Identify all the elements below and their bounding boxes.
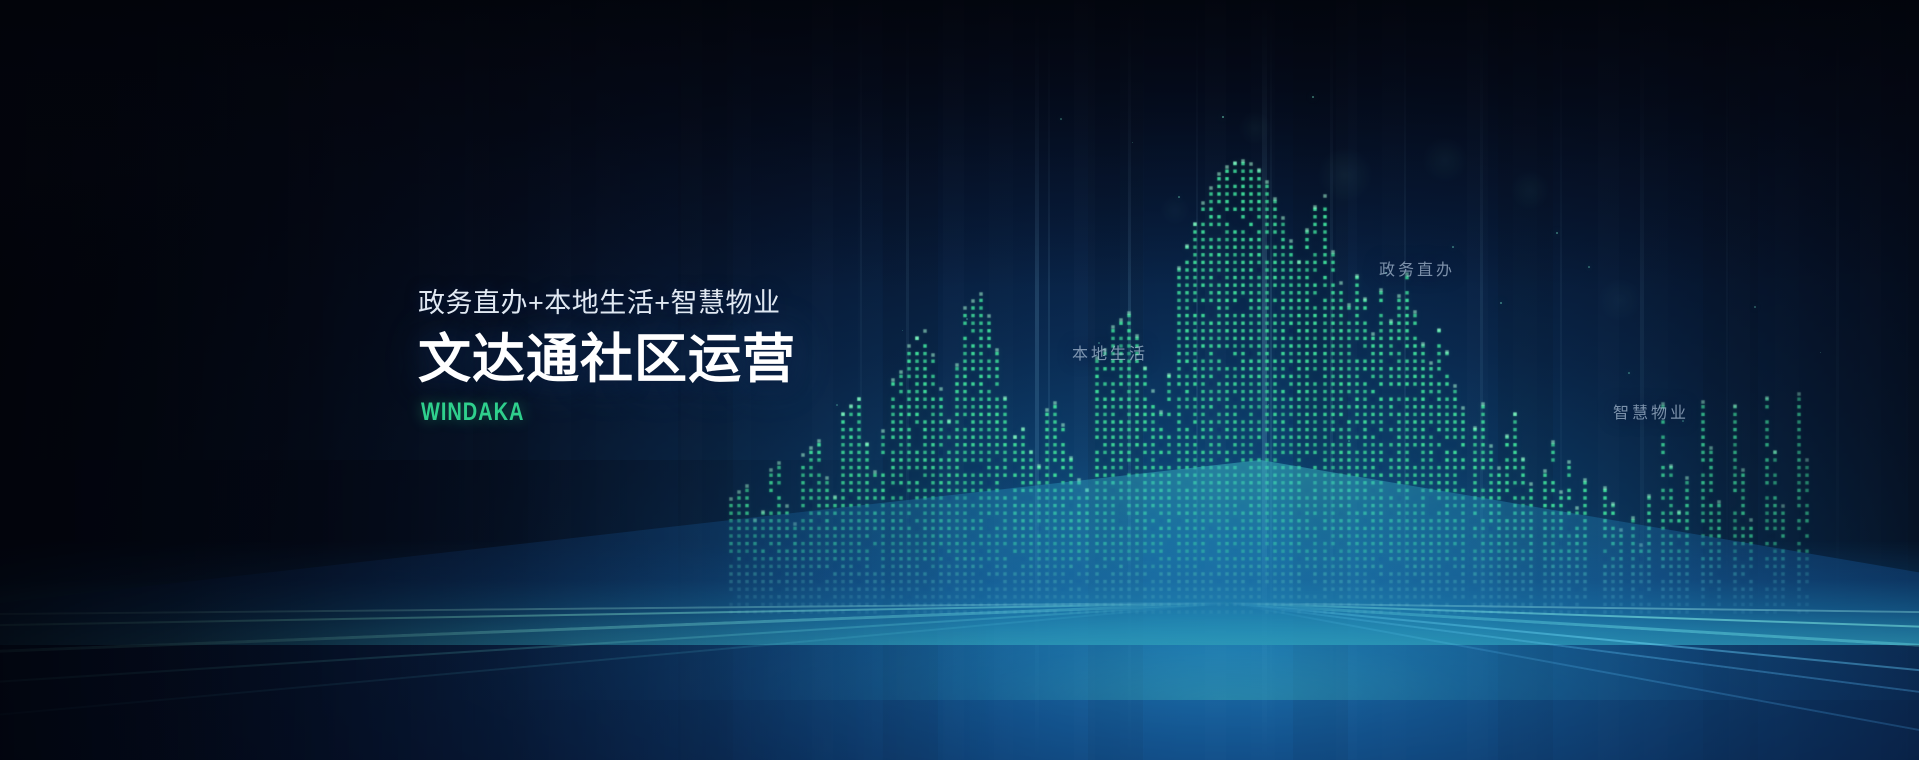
light-shaft-15 <box>1836 0 1839 660</box>
light-shaft-12 <box>1560 0 1562 640</box>
sparkle-11 <box>902 330 903 331</box>
sparkle-17 <box>1132 142 1133 143</box>
sparkle-1 <box>1222 116 1224 118</box>
sparkle-14 <box>1754 306 1756 308</box>
perspective-ground-plane <box>0 460 1919 760</box>
particle-halo-4 <box>1238 111 1272 145</box>
light-shaft-1 <box>1035 0 1039 760</box>
particle-halo-1 <box>1317 147 1373 203</box>
light-shaft-11 <box>1480 0 1483 700</box>
sparkle-6 <box>1556 232 1558 234</box>
sparkle-20 <box>1348 440 1350 442</box>
brand-wordmark: WINDAKA <box>421 400 721 425</box>
light-shaft-4 <box>1196 0 1198 640</box>
sparkle-15 <box>1820 352 1821 353</box>
dotted-skyline-chart <box>0 0 1919 760</box>
sparkle-12 <box>1628 372 1630 374</box>
hero-title: 文达通社区运营 <box>418 333 796 386</box>
light-shaft-2 <box>1048 0 1050 700</box>
perspective-line-left-5 <box>0 602 1228 616</box>
vertical-stripe-texture-dark <box>0 0 1919 760</box>
sparkle-16 <box>1060 118 1062 120</box>
horizon-glow <box>0 470 1919 700</box>
sparkle-7 <box>1588 266 1590 268</box>
sparkle-5 <box>1500 302 1502 304</box>
light-shaft-10 <box>860 0 862 560</box>
top-vignette <box>0 0 1919 760</box>
sparkle-2 <box>1312 96 1314 98</box>
light-shaft-14 <box>1726 0 1728 600</box>
perspective-line-right-1 <box>1228 602 1919 630</box>
light-shaft-9 <box>906 0 909 620</box>
sky-gradient <box>0 0 1919 760</box>
skyline-base-haze <box>0 540 1919 645</box>
light-shaft-8 <box>1404 0 1406 660</box>
category-label-3: 智慧物业 <box>1613 399 1689 423</box>
sparkle-19 <box>1268 404 1269 405</box>
perspective-line-left-2 <box>0 602 1228 655</box>
sparkle-10 <box>966 318 968 320</box>
perspective-line-right-6 <box>1228 602 1919 744</box>
light-shaft-13 <box>1640 0 1644 720</box>
category-label-2: 政务直办 <box>1379 256 1455 280</box>
sparkle-4 <box>1452 246 1454 248</box>
perspective-line-left-3 <box>0 602 1228 686</box>
perspective-line-right-3 <box>1228 602 1919 678</box>
sparkle-18 <box>836 404 838 406</box>
light-shaft-3 <box>1128 0 1131 760</box>
banner-hero: 本地生活政务直办智慧物业 政务直办+本地生活+智慧物业 文达通社区运营 WIND… <box>0 0 1919 760</box>
particle-halo-5 <box>1598 278 1642 322</box>
perspective-line-left-1 <box>0 602 1228 627</box>
category-label-1: 本地生活 <box>1072 340 1148 364</box>
sparkle-8 <box>1178 196 1180 198</box>
ground-left-vignette <box>0 460 1919 760</box>
particle-halo-6 <box>1160 195 1190 225</box>
hero-copy-block: 政务直办+本地生活+智慧物业 文达通社区运营 WINDAKA <box>418 290 796 425</box>
light-shaft-6 <box>1270 0 1272 720</box>
left-vignette <box>0 0 1919 760</box>
light-shaft-7 <box>1330 0 1333 700</box>
perspective-line-left-4 <box>0 602 1228 721</box>
perspective-line-right-5 <box>1228 602 1919 614</box>
vertical-stripe-texture <box>0 0 1919 760</box>
hero-subtitle: 政务直办+本地生活+智慧物业 <box>418 290 796 317</box>
particle-halo-3 <box>1510 170 1550 210</box>
particle-halo-2 <box>1422 137 1468 183</box>
light-shaft-5 <box>1262 0 1267 760</box>
perspective-line-right-2 <box>1228 602 1919 651</box>
right-vignette <box>0 0 1919 760</box>
perspective-line-right-4 <box>1228 602 1919 702</box>
